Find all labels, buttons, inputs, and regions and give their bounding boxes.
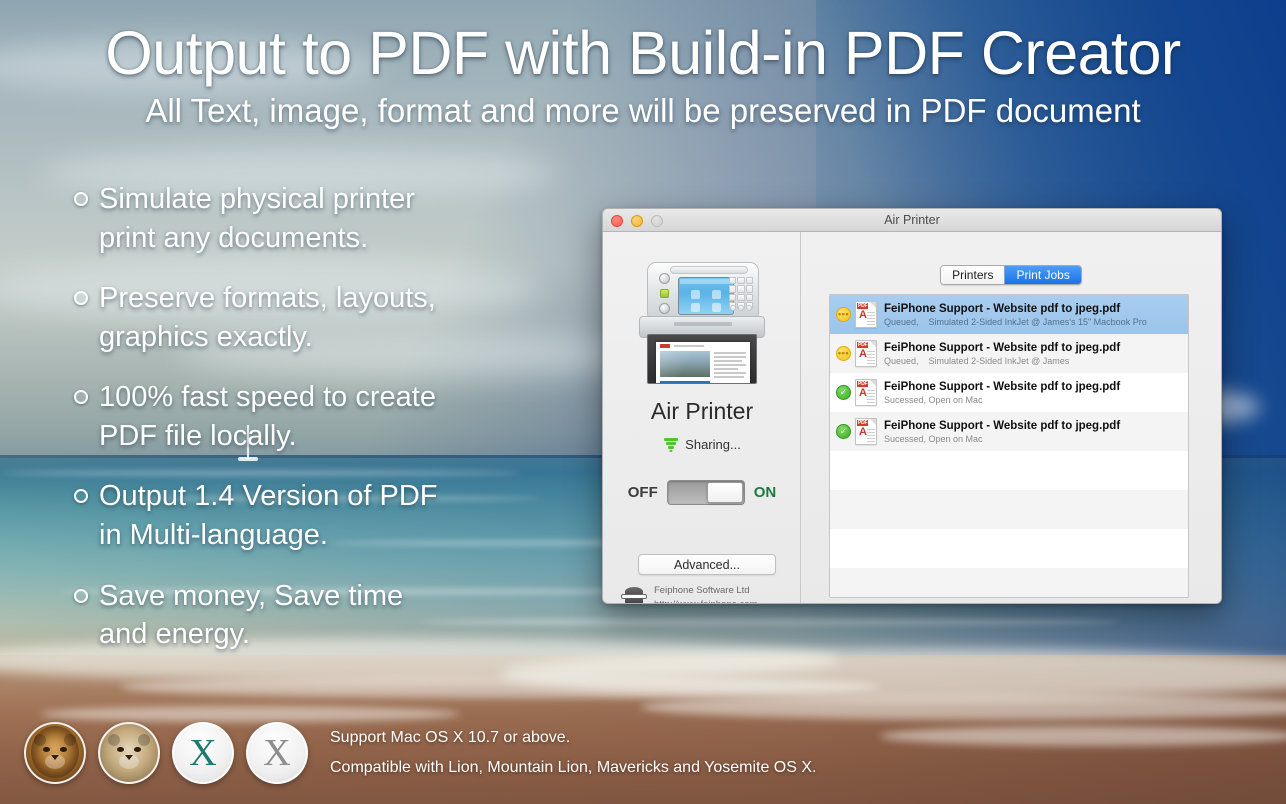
mavericks-x-glyph: X [189, 734, 216, 772]
lion-badge-icon [24, 722, 86, 784]
job-detail: Simulated 2-Sided InkJet @ James's 15" M… [929, 317, 1147, 327]
job-title: FeiPhone Support - Website pdf to jpeg.p… [884, 303, 1182, 315]
feature-list: Simulate physical printer print any docu… [74, 180, 594, 676]
company-url[interactable]: http://www.feiphone.com [654, 598, 758, 604]
empty-row[interactable] [830, 490, 1188, 529]
toggle-knob[interactable] [707, 482, 743, 503]
sharing-toggle-row: OFF ON [603, 480, 801, 505]
support-line-2: Compatible with Lion, Mountain Lion, Mav… [330, 753, 816, 783]
table-row[interactable]: ••• PDF A FeiPhone Support - Website pdf… [830, 295, 1188, 334]
bullet-circle-icon [74, 589, 88, 603]
surf-foam-line [880, 726, 1286, 746]
window-title: Air Printer [603, 213, 1221, 227]
job-text: FeiPhone Support - Website pdf to jpeg.p… [884, 381, 1182, 405]
traffic-lights [611, 215, 663, 227]
feature-text: Simulate physical printer print any docu… [99, 180, 415, 257]
sharing-status-row: Sharing... [603, 437, 801, 452]
lion-face [33, 730, 77, 776]
window-body: Air Printer Sharing... OFF ON Advanced..… [603, 232, 1221, 604]
toggle-off-label: OFF [628, 484, 658, 501]
printer-name-label: Air Printer [603, 398, 801, 425]
status-queued-icon: ••• [836, 307, 851, 322]
table-row[interactable]: ••• PDF A FeiPhone Support - Website pdf… [830, 334, 1188, 373]
printer-illustration-icon [639, 260, 765, 386]
tab-bar: Printers Print Jobs [801, 265, 1221, 285]
list-item: 100% fast speed to create PDF file local… [74, 378, 594, 455]
air-printer-window: Air Printer [602, 208, 1222, 604]
sharing-status-label: Sharing... [685, 437, 741, 452]
surf-foam-line [120, 676, 880, 698]
job-text: FeiPhone Support - Website pdf to jpeg.p… [884, 342, 1182, 366]
job-status: Queued, [884, 356, 919, 366]
status-queued-icon: ••• [836, 346, 851, 361]
print-jobs-list[interactable]: ••• PDF A FeiPhone Support - Website pdf… [829, 294, 1189, 598]
job-text: FeiPhone Support - Website pdf to jpeg.p… [884, 303, 1182, 327]
company-text: Feiphone Software Ltd http://www.feiphon… [654, 584, 758, 604]
job-subtitle: Sucessed, Open on Mac [884, 395, 1182, 405]
bullet-circle-icon [74, 489, 88, 503]
tab-print-jobs[interactable]: Print Jobs [1004, 266, 1080, 284]
close-icon[interactable] [611, 215, 623, 227]
job-title: FeiPhone Support - Website pdf to jpeg.p… [884, 342, 1182, 354]
job-subtitle: Queued, Simulated 2-Sided InkJet @ James… [884, 317, 1182, 327]
feature-text: Output 1.4 Version of PDF in Multi-langu… [99, 477, 438, 554]
printer-sidebar: Air Printer Sharing... OFF ON Advanced..… [603, 232, 801, 604]
table-row[interactable]: ✓ PDF A FeiPhone Support - Website pdf t… [830, 373, 1188, 412]
window-titlebar[interactable]: Air Printer [603, 209, 1221, 232]
advanced-button[interactable]: Advanced... [638, 554, 776, 575]
zoom-icon [651, 215, 663, 227]
feature-text: 100% fast speed to create PDF file local… [99, 378, 436, 455]
pdf-document-icon: PDF A [855, 379, 877, 406]
list-item: Output 1.4 Version of PDF in Multi-langu… [74, 477, 594, 554]
empty-row[interactable] [830, 529, 1188, 568]
bullet-circle-icon [74, 192, 88, 206]
tab-printers[interactable]: Printers [941, 266, 1004, 284]
toggle-on-label: ON [754, 484, 777, 501]
wifi-icon [663, 438, 679, 452]
empty-row[interactable] [830, 568, 1188, 598]
list-item: Preserve formats, layouts, graphics exac… [74, 279, 594, 356]
mountain-lion-badge-icon [98, 722, 160, 784]
job-text: FeiPhone Support - Website pdf to jpeg.p… [884, 420, 1182, 444]
support-text-block: Support Mac OS X 10.7 or above. Compatib… [330, 723, 816, 784]
page-subheadline: All Text, image, format and more will be… [0, 92, 1286, 130]
pdf-document-icon: PDF A [855, 340, 877, 367]
mountain-lion-face [107, 730, 151, 776]
company-info: Feiphone Software Ltd http://www.feiphon… [621, 584, 758, 604]
job-subtitle: Sucessed, Open on Mac [884, 434, 1182, 444]
job-detail: Simulated 2-Sided InkJet @ James [929, 356, 1070, 366]
job-title: FeiPhone Support - Website pdf to jpeg.p… [884, 420, 1182, 432]
compatibility-bar: X X Support Mac OS X 10.7 or above. Comp… [24, 722, 816, 784]
bullet-circle-icon [74, 390, 88, 404]
sharing-toggle[interactable] [667, 480, 745, 505]
company-name: Feiphone Software Ltd [654, 584, 758, 598]
surf-foam-line [40, 706, 460, 722]
status-success-icon: ✓ [836, 385, 851, 400]
status-success-icon: ✓ [836, 424, 851, 439]
yosemite-badge-icon: X [246, 722, 308, 784]
pdf-document-icon: PDF A [855, 301, 877, 328]
empty-row[interactable] [830, 451, 1188, 490]
segmented-control: Printers Print Jobs [940, 265, 1082, 285]
table-row[interactable]: ✓ PDF A FeiPhone Support - Website pdf t… [830, 412, 1188, 451]
page-headline: Output to PDF with Build-in PDF Creator [0, 18, 1286, 88]
feiphone-logo-icon [621, 587, 647, 604]
list-item: Simulate physical printer print any docu… [74, 180, 594, 257]
jobs-panel: Printers Print Jobs ••• PDF A FeiPhone S… [801, 232, 1221, 604]
yosemite-x-glyph: X [263, 734, 290, 772]
minimize-icon[interactable] [631, 215, 643, 227]
job-subtitle: Queued, Simulated 2-Sided InkJet @ James [884, 356, 1182, 366]
job-title: FeiPhone Support - Website pdf to jpeg.p… [884, 381, 1182, 393]
feature-text: Save money, Save time and energy. [99, 577, 403, 654]
list-item: Save money, Save time and energy. [74, 577, 594, 654]
mavericks-badge-icon: X [172, 722, 234, 784]
feature-text: Preserve formats, layouts, graphics exac… [99, 279, 436, 356]
pdf-document-icon: PDF A [855, 418, 877, 445]
bullet-circle-icon [74, 291, 88, 305]
support-line-1: Support Mac OS X 10.7 or above. [330, 723, 816, 753]
job-status: Queued, [884, 317, 919, 327]
